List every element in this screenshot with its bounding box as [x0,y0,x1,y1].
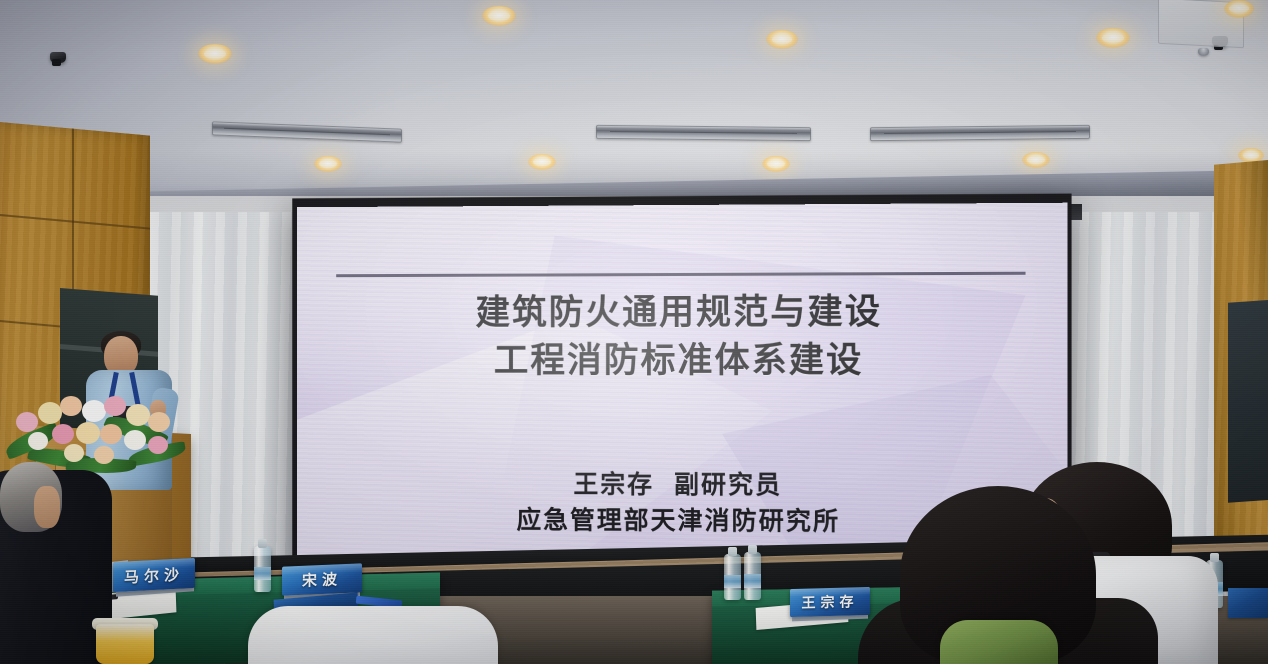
ceiling-downlight-icon [1224,0,1254,18]
conference-photo-scene: 建筑防火通用规范与建设 工程消防标准体系建设 王宗存副研究员 应急管理部天津消防… [0,0,1268,664]
audience-man-face [34,486,60,528]
nameplate: 王宗存 [790,587,870,617]
ceiling-downlight-icon [1022,152,1050,168]
hvac-vent-icon [596,125,811,141]
hvac-vent-icon [870,125,1090,141]
ceiling-downlight-icon [766,30,798,49]
booklet [1228,588,1268,618]
security-camera-icon [50,52,66,63]
ceiling-downlight-icon [1096,28,1130,48]
ceiling-downlight-icon [482,6,516,26]
ceiling-downlight-icon [762,156,790,172]
sprinkler-head-icon [1198,48,1209,56]
wall-recess-right [1228,300,1268,503]
nameplate: 马尔沙 [113,558,195,592]
chair-white [248,606,498,664]
nameplate: 宋波 [282,563,362,595]
water-bottle [724,554,741,600]
water-bottle [744,552,761,600]
drink-cup [96,624,154,664]
chair-green [940,620,1058,664]
ceiling-downlight-icon [314,156,342,172]
ceiling-downlight-icon [198,44,232,64]
water-bottle [254,546,271,592]
ceiling-downlight-icon [528,154,556,170]
